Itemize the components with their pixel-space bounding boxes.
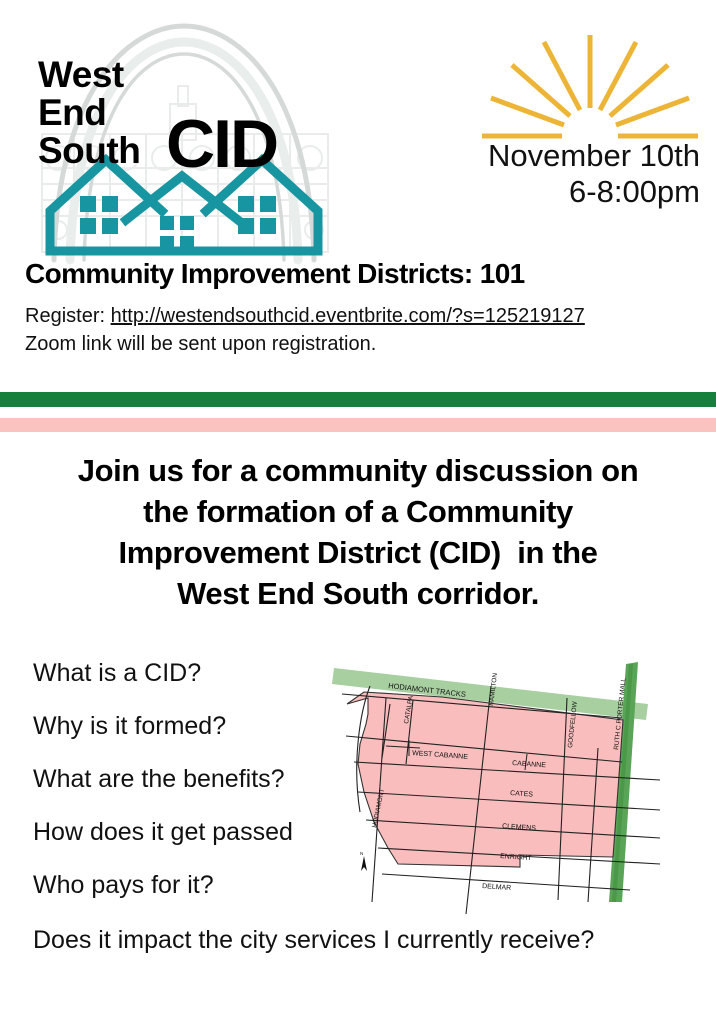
district-map-graphic: HODIAMONT TRACKS CATALPA HAMILTON GOODFE…	[330, 652, 675, 917]
district-map: HODIAMONT TRACKS CATALPA HAMILTON GOODFE…	[330, 652, 675, 917]
logo-line-west: West	[38, 56, 358, 94]
headline-text: Join us for a community discussion on th…	[18, 450, 698, 614]
sunburst-icon	[470, 28, 710, 143]
event-datetime: November 10th 6-8:00pm	[300, 138, 700, 210]
logo-line-south: South	[38, 132, 140, 170]
register-label: Register:	[25, 305, 111, 327]
north-arrow-icon: N	[360, 851, 367, 871]
svg-text:N: N	[360, 851, 363, 856]
logo-acronym-cid: CID	[166, 110, 277, 178]
divider-bar-green	[0, 392, 716, 407]
event-time: 6-8:00pm	[300, 174, 700, 210]
event-date: November 10th	[300, 138, 700, 174]
flyer-page: West End South CID	[0, 0, 716, 1023]
divider-bar-pink	[0, 418, 716, 432]
flyer-header: West End South CID	[0, 0, 716, 392]
registration-link[interactable]: http://westendsouthcid.eventbrite.com/?s…	[111, 305, 585, 327]
registration-line: Register: http://westendsouthcid.eventbr…	[25, 303, 585, 329]
map-label-delmar: DELMAR	[482, 883, 512, 892]
list-item: Does it impact the city services I curre…	[33, 925, 693, 956]
page-title: Community Improvement Districts: 101	[25, 258, 525, 290]
zoom-note: Zoom link will be sent upon registration…	[25, 331, 376, 357]
